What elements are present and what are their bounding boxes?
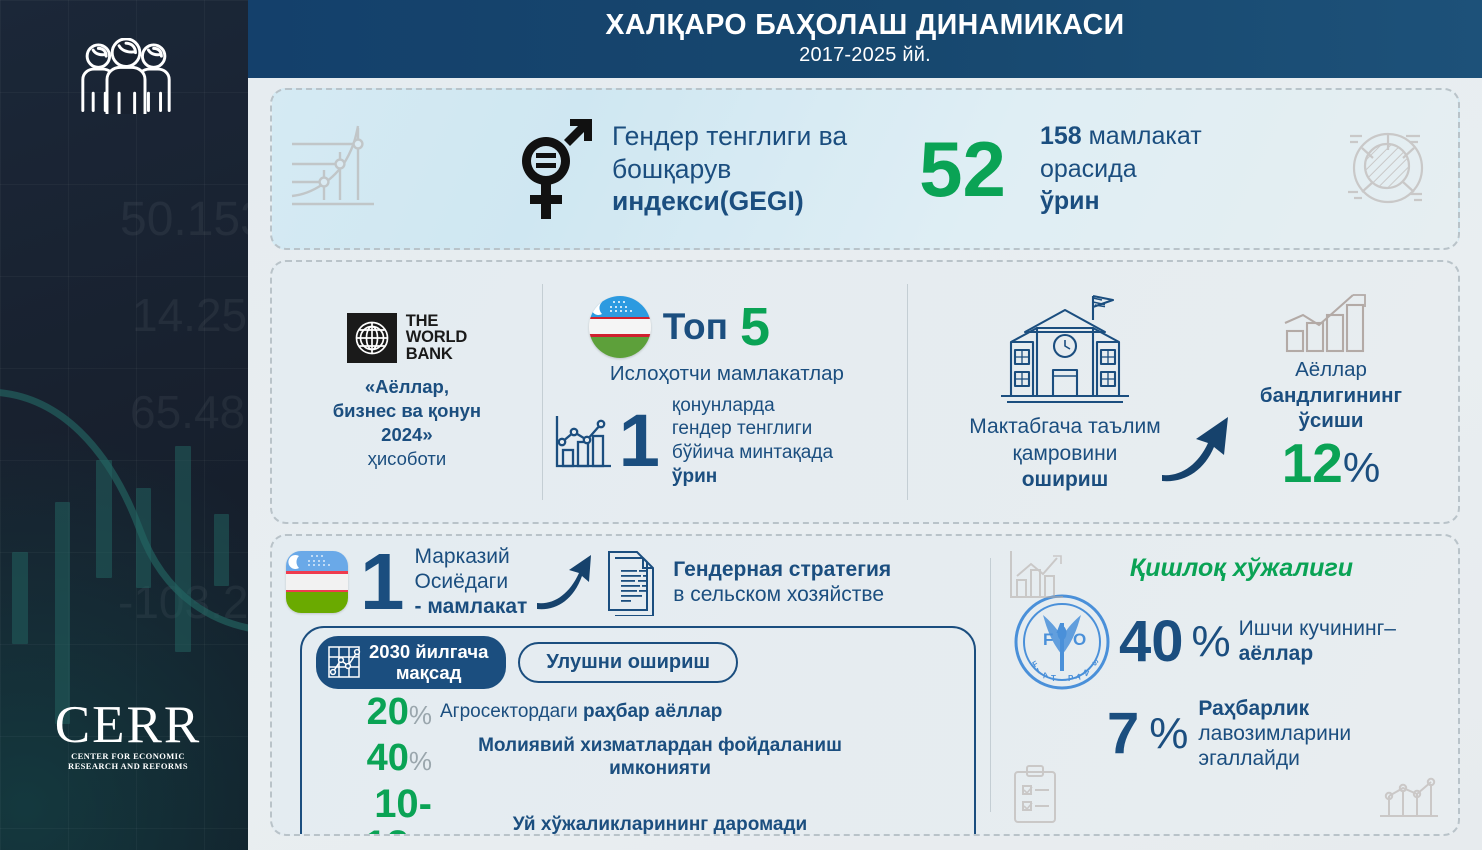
goal-2030-label: 2030 йилгача мақсад [369,641,488,683]
wb-report-line2: бизнес ва қонун [333,399,481,423]
wb-line-bank: BANK [406,346,467,363]
agri-stat-1-unit: % [1192,620,1231,664]
goal-1-value: 20% [316,693,432,732]
wb-report-line1: «Аёллар, [333,375,481,399]
rank-line1: қонунларда [672,394,833,418]
background-trend-curve [0,380,248,650]
school-building-icon [981,290,1149,412]
document-icon [605,548,663,616]
goal-2-unit: % [409,746,432,776]
agri-stat-2-line3: эгаллайди [1198,747,1300,770]
fao-logo-icon: F A O F I A T P A N I S [1013,593,1111,691]
page-subtitle: 2017-2025 йй. [799,44,931,67]
gegi-content: Гендер тенглиги ва бошқарув индекси(GEGI… [510,115,1202,223]
rank-line2: гендер тенглиги [672,417,833,441]
svg-text:O: O [1073,630,1086,649]
central-asia-number: 1 [360,549,405,615]
goal-item-1: 20% Агросектордаги раҳбар аёллар [316,693,960,732]
gegi-among-word: орасида [1040,153,1202,186]
increase-share-pill[interactable]: Улушни ошириш [518,642,738,683]
employment-unit: % [1343,447,1380,489]
regional-rank-block: 1 қонунларда гендер тенглиги бўйича минт… [553,394,901,488]
goal-item-2: 40% Молиявий хизматлардан фойдаланиш имк… [316,735,960,780]
central-asia-block: 1 Марказий Осиёдаги - мамлакат [272,536,990,834]
wb-line-world: WORLD [406,329,467,346]
goal-item-3: 10-12% Уй хўжаликларининг даромади [316,784,960,836]
worldbank-report-caption: «Аёллар, бизнес ва қонун 2024» ҳисоботи [333,375,481,471]
page-header: ХАЛҚАРО БАҲОЛАШ ДИНАМИКАСИ 2017-2025 йй. [248,0,1482,78]
curved-arrow-icon [535,553,597,611]
goal-2030-line2: мақсад [396,662,462,683]
bg-number-2: 14.25 [132,288,247,342]
central-asia-row: 1 Марказий Осиёдаги - мамлакат [286,544,980,620]
infographic-root: 50.153 14.25 65.48 -103.20 [0,0,1482,850]
gegi-country-word: мамлакат [1082,122,1202,150]
employment-line3: ўсиши [1216,408,1446,433]
agri-stat-2-value: 7 [1107,705,1139,763]
world-bank-wordmark: THE WORLD BANK [406,313,467,363]
agri-stat-1-line1: Ишчи кучининг– [1239,617,1396,640]
central-asia-text: Марказий Осиёдаги - мамлакат [415,544,528,620]
goal-1-text: Агросектордаги раҳбар аёллар [440,701,722,723]
goal-2030-pill[interactable]: 2030 йилгача мақсад [316,636,506,689]
gender-equality-icon [510,115,594,223]
growth-curve-chart-icon [290,122,376,214]
content-panel: Гендер тенглиги ва бошқарув индекси(GEGI… [248,78,1482,850]
goal-2030-line1: 2030 йилгача [369,641,488,662]
goal-3-text: Уй хўжаликларининг даромади [440,814,880,836]
goal-2-text: Молиявий хизматлардан фойдаланиш имкония… [440,735,880,780]
checklist-clipboard-icon [1009,764,1065,826]
worldbank-card: THE WORLD BANK «Аёллар, бизнес ва қонун … [270,260,1460,524]
top5-number: 5 [740,300,770,354]
svg-text:I: I [1036,666,1041,675]
goal-pills: 2030 йилгача мақсад Улушни ошириш [316,636,960,689]
employment-line2: бандлигининг [1216,383,1446,408]
cerr-wordmark: CERR [40,700,216,750]
agri-stat-1-line2: аёллар [1239,642,1314,665]
bar-chart-growth-icon [1005,548,1067,604]
wb-report-line3: 2024» [333,423,481,447]
employment-line1: Аёллар [1216,357,1446,382]
world-bank-globe-icon [347,313,397,363]
gegi-title-line2: бошқарув [612,153,847,186]
svg-text:P: P [1068,674,1074,683]
cerr-tagline-line2: RESEARCH AND REFORMS [40,762,216,772]
svg-text:F: F [1043,630,1053,649]
strategy-text: Гендерная стратегия в сельском хозяйстве [673,557,891,607]
page-title: ХАЛҚАРО БАҲОЛАШ ДИНАМИКАСИ [605,11,1124,41]
agriculture-stats-block: Қишлоқ хўжалиги F A O F I [991,536,1458,834]
svg-text:T: T [1051,674,1056,683]
growing-bar-chart-icon [1281,293,1381,355]
ca-line1: Марказий [415,544,528,569]
preschool-employment-block: Мактабгача таълим қамровини ошириш [908,262,1458,522]
cerr-logo: CERR CENTER FOR ECONOMIC RESEARCH AND RE… [40,700,216,772]
agriculture-title: Қишлоқ хўжалиги [1041,554,1442,583]
employment-caption: Аёллар бандлигининг ўсиши [1216,357,1446,433]
top5-subtitle: Ислоҳотчи мамлакатлар [553,362,901,386]
goal-2-value: 40% [316,739,432,778]
line-bar-chart-icon [1376,768,1442,824]
employment-value: 12 [1282,436,1343,491]
svg-text:A: A [1075,672,1083,682]
goal-1-text-bold: раҳбар аёллар [583,701,722,722]
wb-line-the: THE [406,313,467,330]
gegi-rank-value: 52 [919,134,1006,204]
agri-stat-2-unit: % [1149,712,1188,756]
goal-1-unit: % [409,700,432,730]
employment-value-row: 12 % [1216,436,1446,491]
employment-block: Аёллар бандлигининг ўсиши 12 % [1216,293,1446,490]
left-sidebar: 50.153 14.25 65.48 -103.20 [0,0,248,850]
world-bank-logo: THE WORLD BANK [347,313,467,363]
worldbank-block: THE WORLD BANK «Аёллар, бизнес ва қонун … [272,262,542,522]
ca-line2: Осиёдаги [415,569,528,594]
agri-stat-2: 7 % Раҳбарлик лавозимларини эгаллайди [1107,697,1442,771]
goals-box: 2030 йилгача мақсад Улушни ошириш 20% Аг… [300,626,976,836]
agriculture-card: 1 Марказий Осиёдаги - мамлакат [270,534,1460,836]
rank-line3: бўйича минтақада [672,441,833,465]
ca-line3: - мамлакат [415,594,528,619]
gegi-title: Гендер тенглиги ва бошқарув индекси(GEGI… [612,120,847,219]
agri-stat-1-text: Ишчи кучининг– аёллар [1239,617,1396,667]
agri-stat-1-value: 40 [1119,613,1184,671]
strategy-subtitle: в сельском хозяйстве [673,582,891,607]
agri-stat-2-line2: лавозимларини [1198,722,1351,745]
svg-text:A: A [1056,620,1067,637]
agri-stat-2-line1: Раҳбарлик [1198,697,1309,720]
gegi-rank-context: 158 мамлакат орасида ўрин [1040,120,1202,218]
gegi-index-label: индекси(GEGI) [612,185,847,218]
agri-stat-2-text: Раҳбарлик лавозимларини эгаллайди [1198,697,1351,771]
gegi-country-count: 158 [1040,122,1082,150]
gegi-title-line1: Гендер тенглиги ва [612,120,847,153]
bar-line-chart-icon [553,412,615,470]
strategy-title: Гендерная стратегия [673,557,891,582]
gegi-country-line: 158 мамлакат [1040,120,1202,153]
rank-line4: ўрин [672,465,833,489]
agri-stat-1: F A O F I A T P A N I S [1007,593,1442,691]
top5-label: Топ [663,308,728,345]
regional-rank-text: қонунларда гендер тенглиги бўйича минтақ… [672,394,833,488]
network-chart-icon [326,644,362,680]
top5-block: Топ 5 Ислоҳотчи мамлакатлар [543,262,907,522]
goal-3-unit: % [409,834,432,836]
top5-heading: Топ 5 [589,296,901,358]
uzbekistan-flag-circle-icon [589,296,651,358]
gegi-place-word: ўрин [1040,185,1202,218]
goal-1-text-reg: Агросектордаги [440,701,583,722]
pie-chart-icon [1340,116,1436,216]
svg-text:A: A [1042,670,1049,680]
people-group-icon [74,38,178,114]
goal-3-value: 10-12% [316,784,432,836]
regional-rank-number: 1 [619,409,660,473]
gegi-card: Гендер тенглиги ва бошқарув индекси(GEGI… [270,88,1460,250]
wb-report-word: ҳисоботи [333,447,481,471]
bg-number-1: 50.153 [120,192,248,247]
curved-up-arrow-icon [1158,407,1236,485]
uzbekistan-flag-square-icon [286,551,348,613]
